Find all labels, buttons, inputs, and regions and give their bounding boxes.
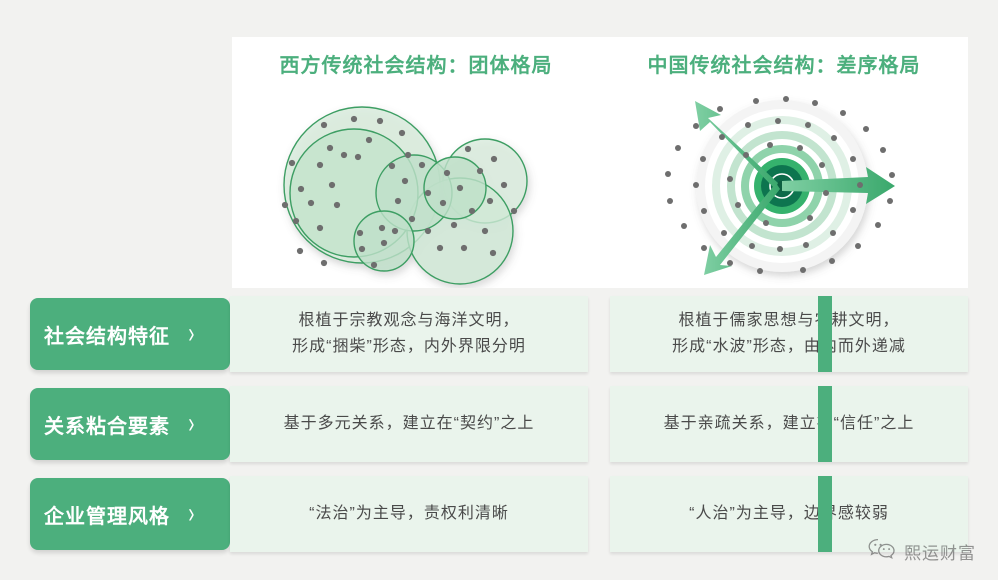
table-row: 关系粘合要素 › 基于多元关系，建立在“契约”之上 基于亲疏关系，建立在“信任”… <box>0 386 998 462</box>
row-label-text: 社会结构特征 <box>44 320 170 349</box>
table-row: 社会结构特征 › 根植于宗教观念与海洋文明， 形成“捆柴”形态，内外界限分明 根… <box>0 296 998 372</box>
row-cells: 根植于宗教观念与海洋文明， 形成“捆柴”形态，内外界限分明 根植于儒家思想与农耕… <box>230 296 968 372</box>
cell-west: 基于多元关系，建立在“契约”之上 <box>230 386 588 462</box>
comparison-panels: 西方传统社会结构：团体格局 <box>232 37 968 288</box>
cell-text: 根植于宗教观念与海洋文明， 形成“捆柴”形态，内外界限分明 <box>292 308 526 361</box>
concentric-ripples-diagram <box>600 93 968 288</box>
comparison-rows: 社会结构特征 › 根植于宗教观念与海洋文明， 形成“捆柴”形态，内外界限分明 根… <box>0 296 998 566</box>
row-label-management-style[interactable]: 企业管理风格 › <box>30 478 230 550</box>
cell-china: “人治”为主导，边界感较弱 <box>610 476 968 552</box>
cell-text: “法治”为主导，责权利清晰 <box>309 501 509 527</box>
overlapping-circles-diagram <box>232 93 600 288</box>
column-divider-bar <box>818 386 832 462</box>
cell-china: 根植于儒家思想与农耕文明， 形成“水波”形态，由内而外递减 <box>610 296 968 372</box>
chevron-right-icon: › <box>188 320 194 349</box>
row-label-social-structure[interactable]: 社会结构特征 › <box>30 298 230 370</box>
panel-west: 西方传统社会结构：团体格局 <box>232 37 600 288</box>
row-cells: “法治”为主导，责权利清晰 “人治”为主导，边界感较弱 <box>230 476 968 552</box>
table-row: 企业管理风格 › “法治”为主导，责权利清晰 “人治”为主导，边界感较弱 <box>0 476 998 552</box>
panel-west-title: 西方传统社会结构：团体格局 <box>232 37 600 95</box>
panel-china: 中国传统社会结构：差序格局 <box>600 37 968 288</box>
chevron-right-icon: › <box>188 500 194 529</box>
cell-text: 基于多元关系，建立在“契约”之上 <box>284 411 535 437</box>
panel-china-title: 中国传统社会结构：差序格局 <box>600 37 968 95</box>
cell-text: 基于亲疏关系，建立在“信任”之上 <box>664 411 915 437</box>
cell-china: 基于亲疏关系，建立在“信任”之上 <box>610 386 968 462</box>
row-label-text: 关系粘合要素 <box>44 410 170 439</box>
row-label-text: 企业管理风格 <box>44 500 170 529</box>
cell-text: “人治”为主导，边界感较弱 <box>689 501 889 527</box>
chevron-right-icon: › <box>188 410 194 439</box>
column-divider-bar <box>818 476 832 552</box>
row-cells: 基于多元关系，建立在“契约”之上 基于亲疏关系，建立在“信任”之上 <box>230 386 968 462</box>
column-divider-bar <box>818 296 832 372</box>
cell-west: “法治”为主导，责权利清晰 <box>230 476 588 552</box>
cell-text: 根植于儒家思想与农耕文明， 形成“水波”形态，由内而外递减 <box>672 308 906 361</box>
row-label-relationship-glue[interactable]: 关系粘合要素 › <box>30 388 230 460</box>
cell-west: 根植于宗教观念与海洋文明， 形成“捆柴”形态，内外界限分明 <box>230 296 588 372</box>
